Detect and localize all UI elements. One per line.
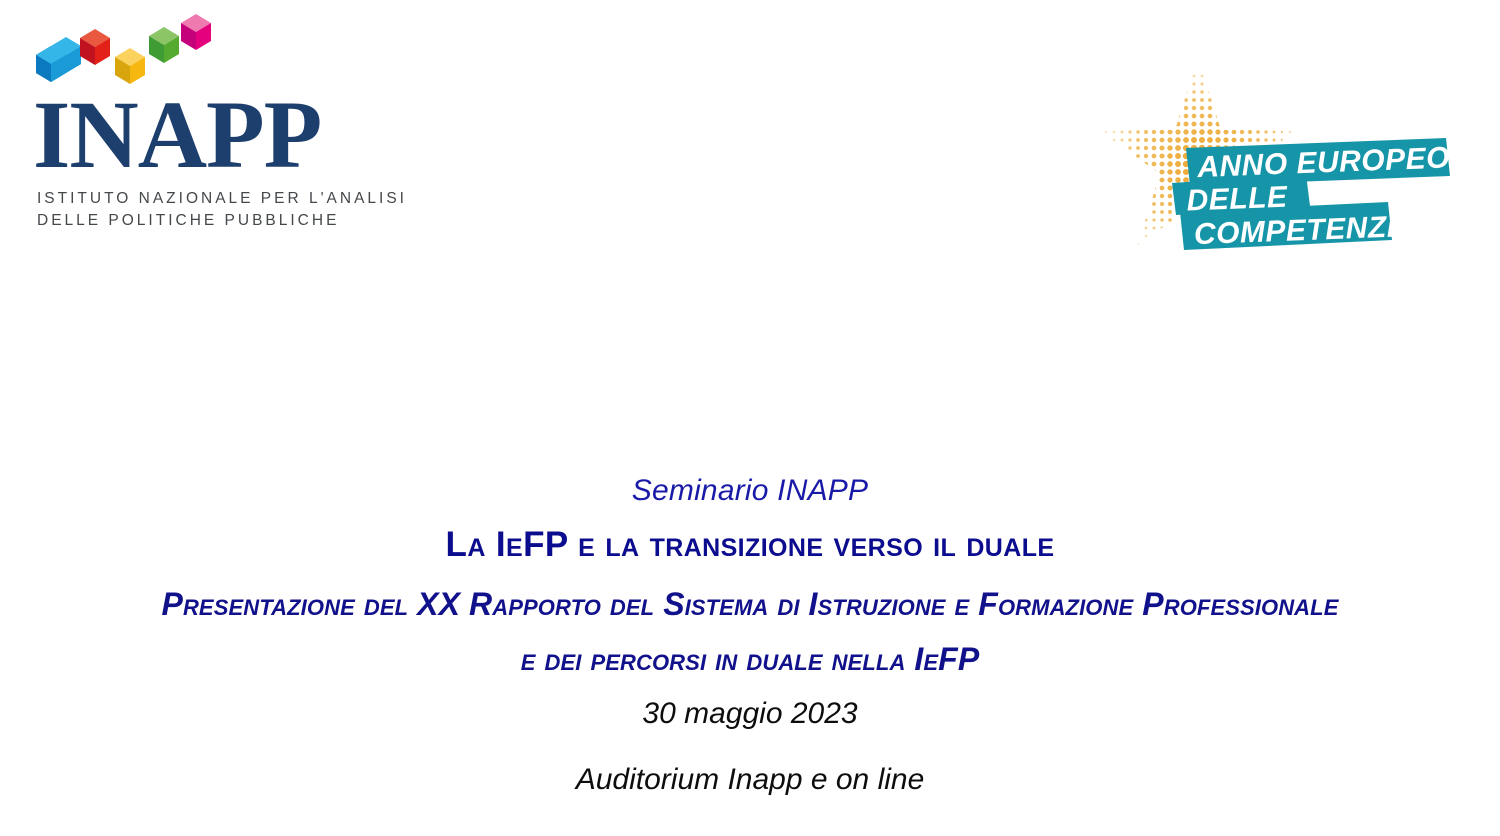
cube-yellow-shape	[115, 48, 145, 84]
inapp-cubes-icon	[33, 12, 233, 100]
seminar-title: La IeFP e la transizione verso il duale	[0, 527, 1500, 562]
seminar-subtitle-line-2: e dei percorsi in duale nella IeFP	[0, 643, 1500, 675]
seminar-subtitle-line-1: Presentazione del XX Rapporto del Sistem…	[0, 588, 1500, 620]
seminar-venue: Auditorium Inapp e on line	[0, 765, 1500, 795]
svg-text:DELLE: DELLE	[1186, 181, 1289, 218]
inapp-tagline-line-1: ISTITUTO NAZIONALE PER L'ANALISI	[37, 190, 407, 208]
cube-magenta-shape	[181, 14, 211, 50]
svg-text:INAPP: INAPP	[33, 95, 321, 185]
inapp-tagline-line-2: DELLE POLITICHE PUBBLICHE	[37, 212, 339, 230]
inapp-wordmark: INAPP	[33, 95, 383, 185]
seminar-date: 30 maggio 2023	[0, 699, 1500, 729]
inapp-logo: INAPP ISTITUTO NAZIONALE PER L'ANALISI D…	[33, 12, 383, 237]
cube-green-shape	[149, 27, 179, 63]
seminar-eyebrow: Seminario INAPP	[0, 476, 1500, 506]
eyos-banner-text: ANNO EUROPEO DELLE COMPETENZE	[1185, 141, 1453, 251]
cube-blue-shape	[36, 37, 81, 82]
cube-red-shape	[80, 29, 110, 65]
anno-europeo-delle-competenze-logo: ANNO EUROPEO DELLE COMPETENZE	[1098, 52, 1458, 262]
presentation-slide: INAPP ISTITUTO NAZIONALE PER L'ANALISI D…	[0, 0, 1500, 836]
svg-text:COMPETENZE: COMPETENZE	[1193, 210, 1408, 251]
